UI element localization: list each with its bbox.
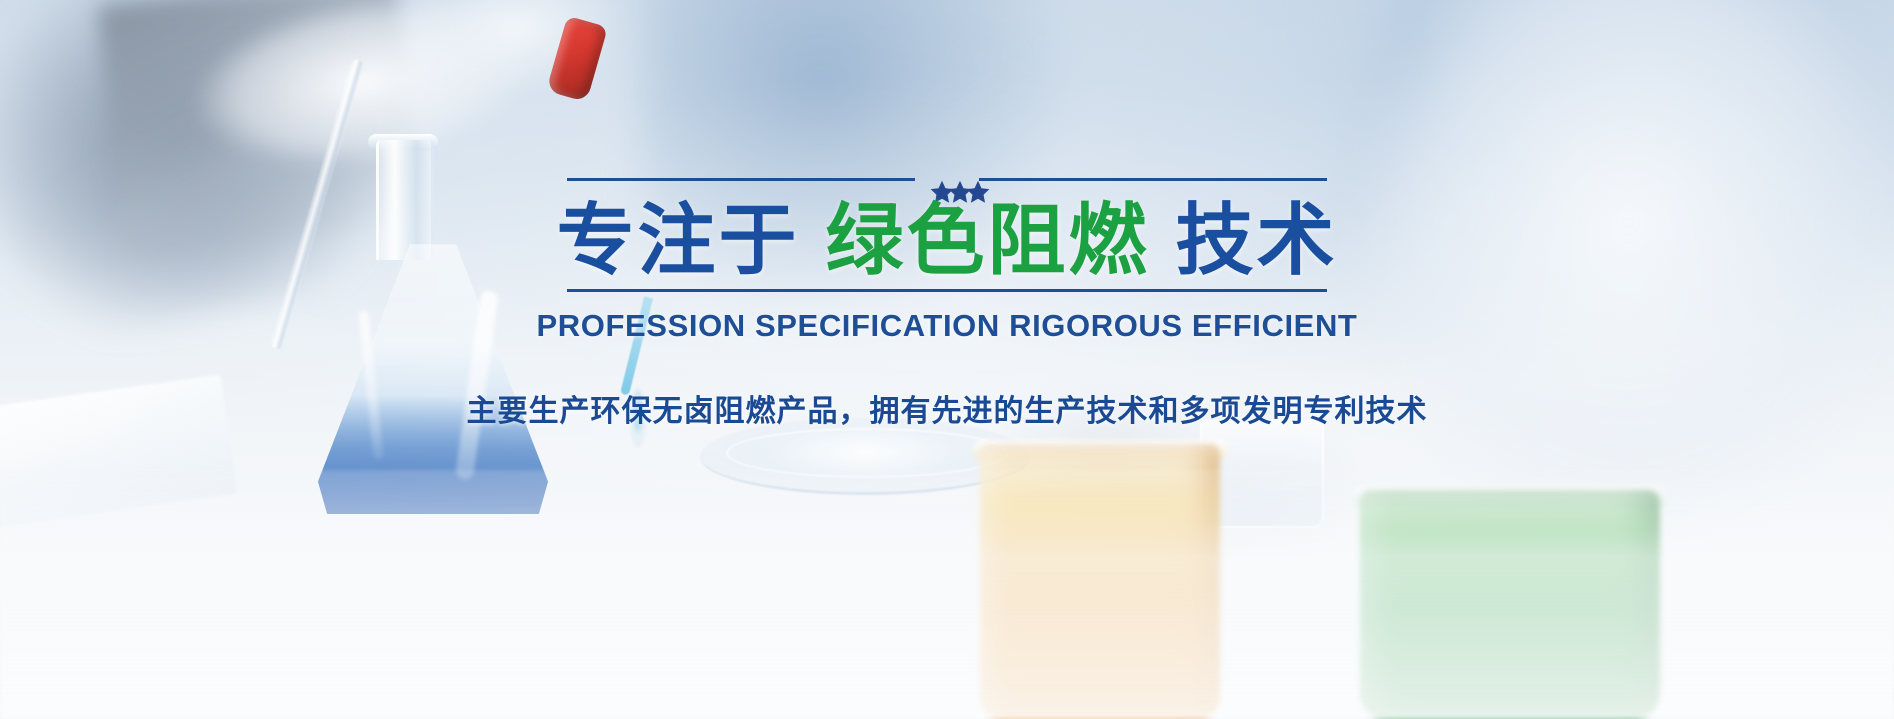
hero-banner: 专注于绿色阻燃技术 PROFESSION SPECIFICATION RIGOR… bbox=[0, 0, 1894, 719]
subtitle-english: PROFESSION SPECIFICATION RIGOROUS EFFICI… bbox=[537, 308, 1358, 344]
decorative-divider bbox=[567, 168, 1327, 190]
divider-rule-left bbox=[567, 178, 915, 181]
headline-part-2-accent: 绿色阻燃 bbox=[825, 196, 1149, 284]
erlenmeyer-flask-icon bbox=[318, 140, 548, 515]
flask-neck bbox=[376, 140, 434, 260]
divider-rule-right bbox=[979, 178, 1327, 181]
tagline-chinese: 主要生产环保无卤阻燃产品，拥有先进的生产技术和多项发明专利技术 bbox=[467, 386, 1428, 430]
headline-part-3: 技术 bbox=[1176, 196, 1338, 284]
page-title: 专注于绿色阻燃技术 bbox=[556, 200, 1337, 281]
lab-bench-surface bbox=[0, 470, 1894, 719]
headline-underline-rule bbox=[567, 289, 1327, 292]
headline-part-1: 专注于 bbox=[556, 196, 799, 284]
